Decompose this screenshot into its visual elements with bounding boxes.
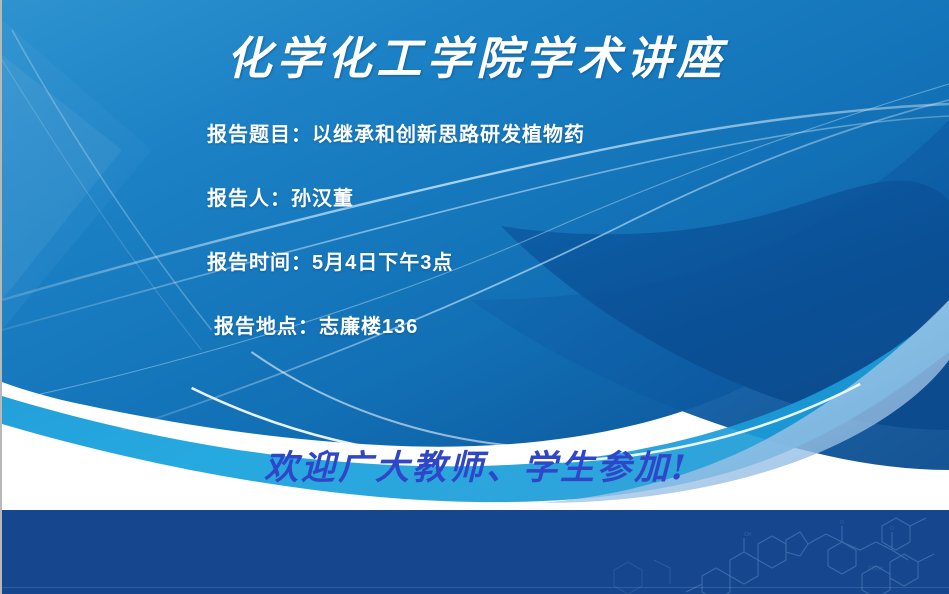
info-line-speaker: 报告人：孙汉董 <box>207 182 807 211</box>
info-line-location: 报告地点：志廉楼136 <box>214 310 807 339</box>
poster-content: 化学化工学院学术讲座 报告题目：以继承和创新思路研发植物药 报告人：孙汉董 报告… <box>2 0 949 594</box>
page-title: 化学化工学院学术讲座 <box>2 22 949 87</box>
info-line-topic: 报告题目：以继承和创新思路研发植物药 <box>207 118 807 147</box>
lecture-info-block: 报告题目：以继承和创新思路研发植物药 报告人：孙汉董 报告时间：5月4日下午3点… <box>207 118 807 374</box>
lecture-poster: OH O O HO COOH 化学化工学院学术讲座 报告题目：以继承和创新思路研… <box>0 0 949 594</box>
welcome-message: 欢迎广大教师、学生参加! <box>2 440 949 489</box>
info-line-time: 报告时间：5月4日下午3点 <box>207 246 807 275</box>
